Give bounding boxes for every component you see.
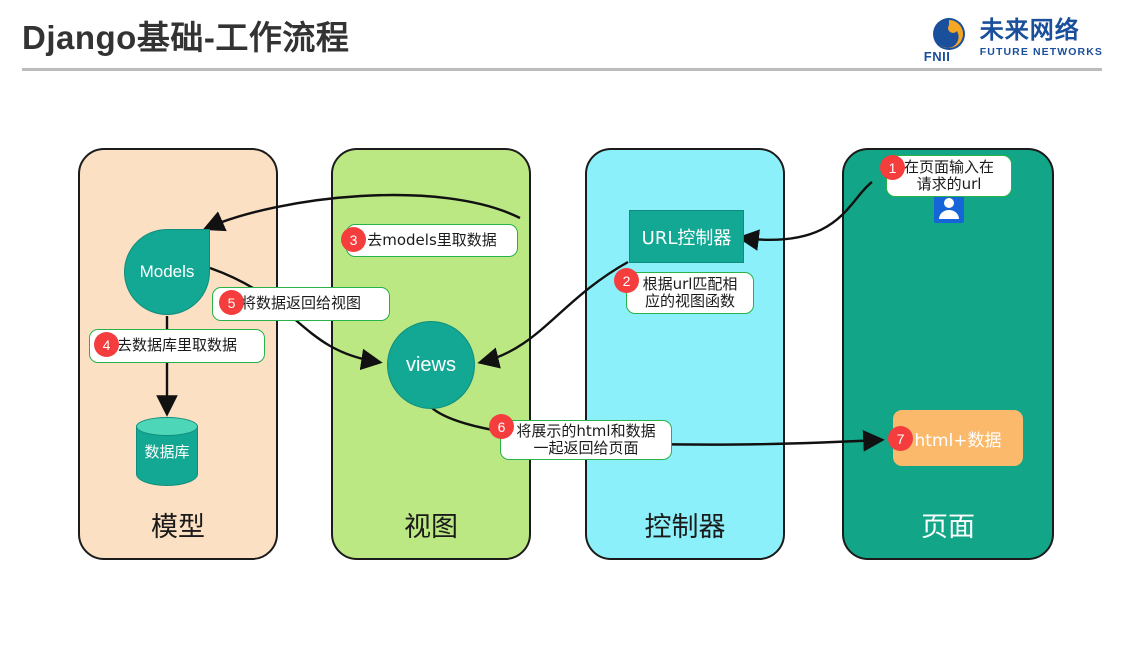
brand-name-en: FUTURE NETWORKS xyxy=(980,47,1103,58)
brand-logo: FNII 未来网络 FUTURE NETWORKS xyxy=(926,15,1103,61)
node-database[interactable]: 数据库 xyxy=(136,417,198,489)
step-badge-3: 3 xyxy=(341,227,366,252)
node-views[interactable]: views xyxy=(387,321,475,409)
node-models[interactable]: Models xyxy=(124,229,210,315)
step-callout-2[interactable]: 根据url匹配相应的视图函数 xyxy=(626,272,754,314)
step-callout-6[interactable]: 将展示的html和数据一起返回给页面 xyxy=(500,420,672,460)
header-divider xyxy=(22,68,1102,71)
step-badge-5: 5 xyxy=(219,290,244,315)
step-callout-1[interactable]: 在页面输入在请求的url xyxy=(886,155,1012,197)
step-badge-4: 4 xyxy=(94,332,119,357)
fnii-swirl-icon: FNII xyxy=(926,15,972,61)
column-label-model: 模型 xyxy=(80,505,276,544)
brand-abbrev: FNII xyxy=(924,49,951,64)
user-person-icon xyxy=(934,193,964,223)
slide-root: Django基础-工作流程 FNII 未来网络 FUTURE NETWORKS … xyxy=(0,0,1123,648)
brand-name-cn: 未来网络 xyxy=(980,19,1103,43)
column-label-controller: 控制器 xyxy=(587,505,783,544)
step-badge-2: 2 xyxy=(614,268,639,293)
step-badge-1: 1 xyxy=(880,155,905,180)
column-label-view: 视图 xyxy=(333,505,529,544)
column-label-page: 页面 xyxy=(844,505,1052,544)
page-title: Django基础-工作流程 xyxy=(22,11,349,59)
step-callout-3[interactable]: 去models里取数据 xyxy=(346,224,518,257)
node-url-controller[interactable]: URL控制器 xyxy=(629,210,744,263)
node-database-label: 数据库 xyxy=(136,441,198,462)
step-badge-6: 6 xyxy=(489,414,514,439)
step-badge-7: 7 xyxy=(888,426,913,451)
database-cylinder-top xyxy=(136,417,198,436)
